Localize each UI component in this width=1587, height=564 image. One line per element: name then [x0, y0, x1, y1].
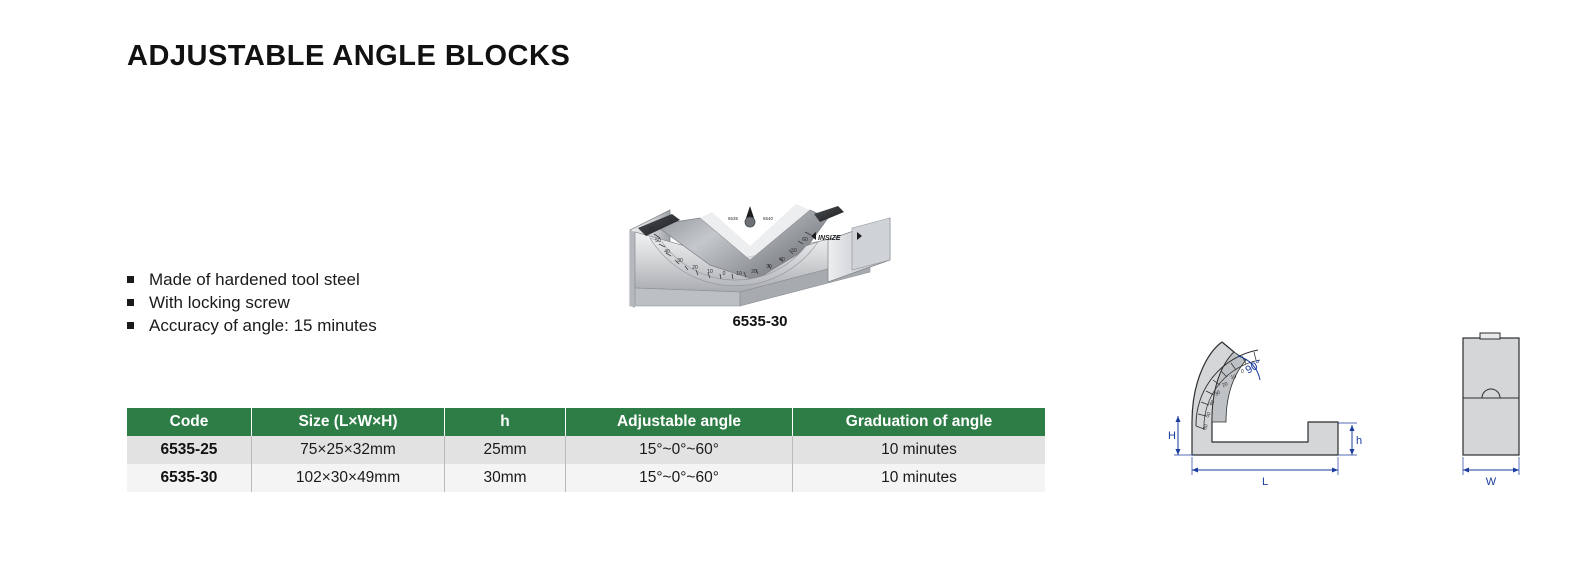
table-header-row: Code Size (L×W×H) h Adjustable angle Gra… [127, 408, 1045, 436]
cell-h: 25mm [445, 436, 566, 464]
dimension-label-W: W [1486, 476, 1497, 488]
list-item: With locking screw [127, 291, 377, 314]
dimension-drawing-svg: 60 50 40 30 20 10 0 90° H h [1160, 330, 1570, 510]
end-view: W [1463, 333, 1519, 488]
cell-angle: 15°~0°~60° [566, 464, 793, 492]
column-header-size: Size (L×W×H) [252, 408, 445, 436]
cell-graduation: 10 minutes [793, 464, 1046, 492]
column-header-adjustable-angle: Adjustable angle [566, 408, 793, 436]
scale-label: 50 [791, 248, 797, 254]
cell-angle: 15°~0°~60° [566, 436, 793, 464]
drawing-scale-label: 0 [1241, 369, 1244, 375]
cell-code: 6535-25 [127, 436, 252, 464]
table-row: 6535-25 75×25×32mm 25mm 15°~0°~60° 10 mi… [127, 436, 1045, 464]
feature-text: Accuracy of angle: 15 minutes [149, 316, 377, 335]
scale-label: 50 [655, 238, 661, 244]
product-photo: 60 50 40 30 20 10 0 10 20 30 40 50 60 65… [600, 110, 920, 340]
dimension-label-L: L [1262, 476, 1268, 488]
scale-label: 40 [779, 257, 785, 263]
side-view: 60 50 40 30 20 10 0 90° H h [1168, 342, 1362, 488]
bullet-icon [127, 276, 134, 283]
list-item: Made of hardened tool steel [127, 268, 377, 291]
dimension-label-h: h [1356, 435, 1362, 447]
feature-text: Made of hardened tool steel [149, 270, 360, 289]
angle-label: 90° [1244, 358, 1264, 377]
dial-text-right: 6540 [763, 216, 774, 221]
scale-label: 60 [649, 226, 655, 232]
scale-label: 20 [751, 269, 757, 275]
feature-text: With locking screw [149, 293, 290, 312]
product-caption: 6535-30 [600, 313, 920, 330]
column-header-code: Code [127, 408, 252, 436]
cell-h: 30mm [445, 464, 566, 492]
brand-text: INSIZE [818, 235, 841, 242]
dial-text-left: 6535 [728, 216, 739, 221]
dimension-drawing: 60 50 40 30 20 10 0 90° H h [1160, 330, 1570, 510]
scale-label: 10 [707, 269, 713, 275]
table-row: 6535-30 102×30×49mm 30mm 15°~0°~60° 10 m… [127, 464, 1045, 492]
page-title: ADJUSTABLE ANGLE BLOCKS [127, 40, 570, 73]
cell-size: 102×30×49mm [252, 464, 445, 492]
scale-label: 40 [664, 249, 670, 255]
specification-table: Code Size (L×W×H) h Adjustable angle Gra… [127, 408, 1045, 492]
angle-block-illustration: 60 50 40 30 20 10 0 10 20 30 40 50 60 65… [600, 110, 920, 340]
cell-size: 75×25×32mm [252, 436, 445, 464]
scale-label: 20 [692, 265, 698, 271]
column-header-h: h [445, 408, 566, 436]
dimension-label-H: H [1168, 430, 1176, 442]
list-item: Accuracy of angle: 15 minutes [127, 314, 377, 337]
scale-label: 30 [677, 258, 683, 264]
column-header-graduation: Graduation of angle [793, 408, 1046, 436]
scale-label: 60 [802, 237, 808, 243]
feature-list: Made of hardened tool steel With locking… [127, 268, 377, 337]
bullet-icon [127, 299, 134, 306]
bullet-icon [127, 322, 134, 329]
cell-graduation: 10 minutes [793, 436, 1046, 464]
scale-label-zero: 0 [723, 271, 726, 277]
scale-label: 30 [766, 264, 772, 270]
scale-label: 10 [736, 271, 742, 277]
cell-code: 6535-30 [127, 464, 252, 492]
